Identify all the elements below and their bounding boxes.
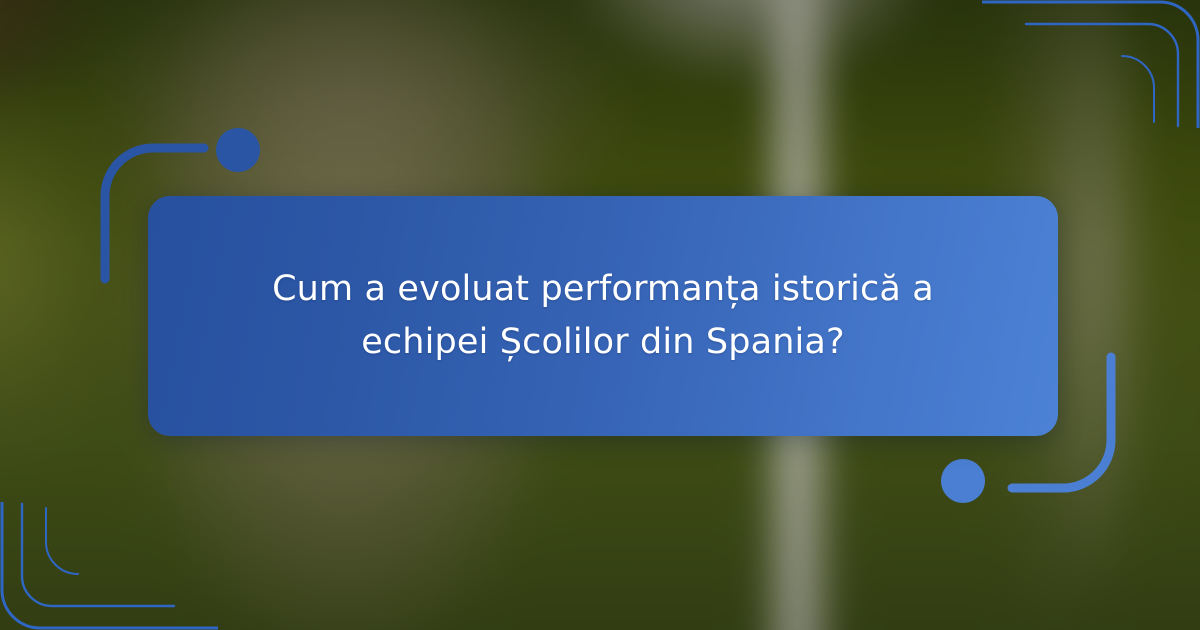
circle-dot-top-left-icon	[216, 128, 260, 172]
social-card-root: Cum a evoluat performanța istorică a ech…	[0, 0, 1200, 630]
question-card: Cum a evoluat performanța istorică a ech…	[148, 196, 1058, 436]
circle-dot-bottom-right-icon	[941, 459, 985, 503]
question-text: Cum a evoluat performanța istorică a ech…	[208, 263, 998, 369]
